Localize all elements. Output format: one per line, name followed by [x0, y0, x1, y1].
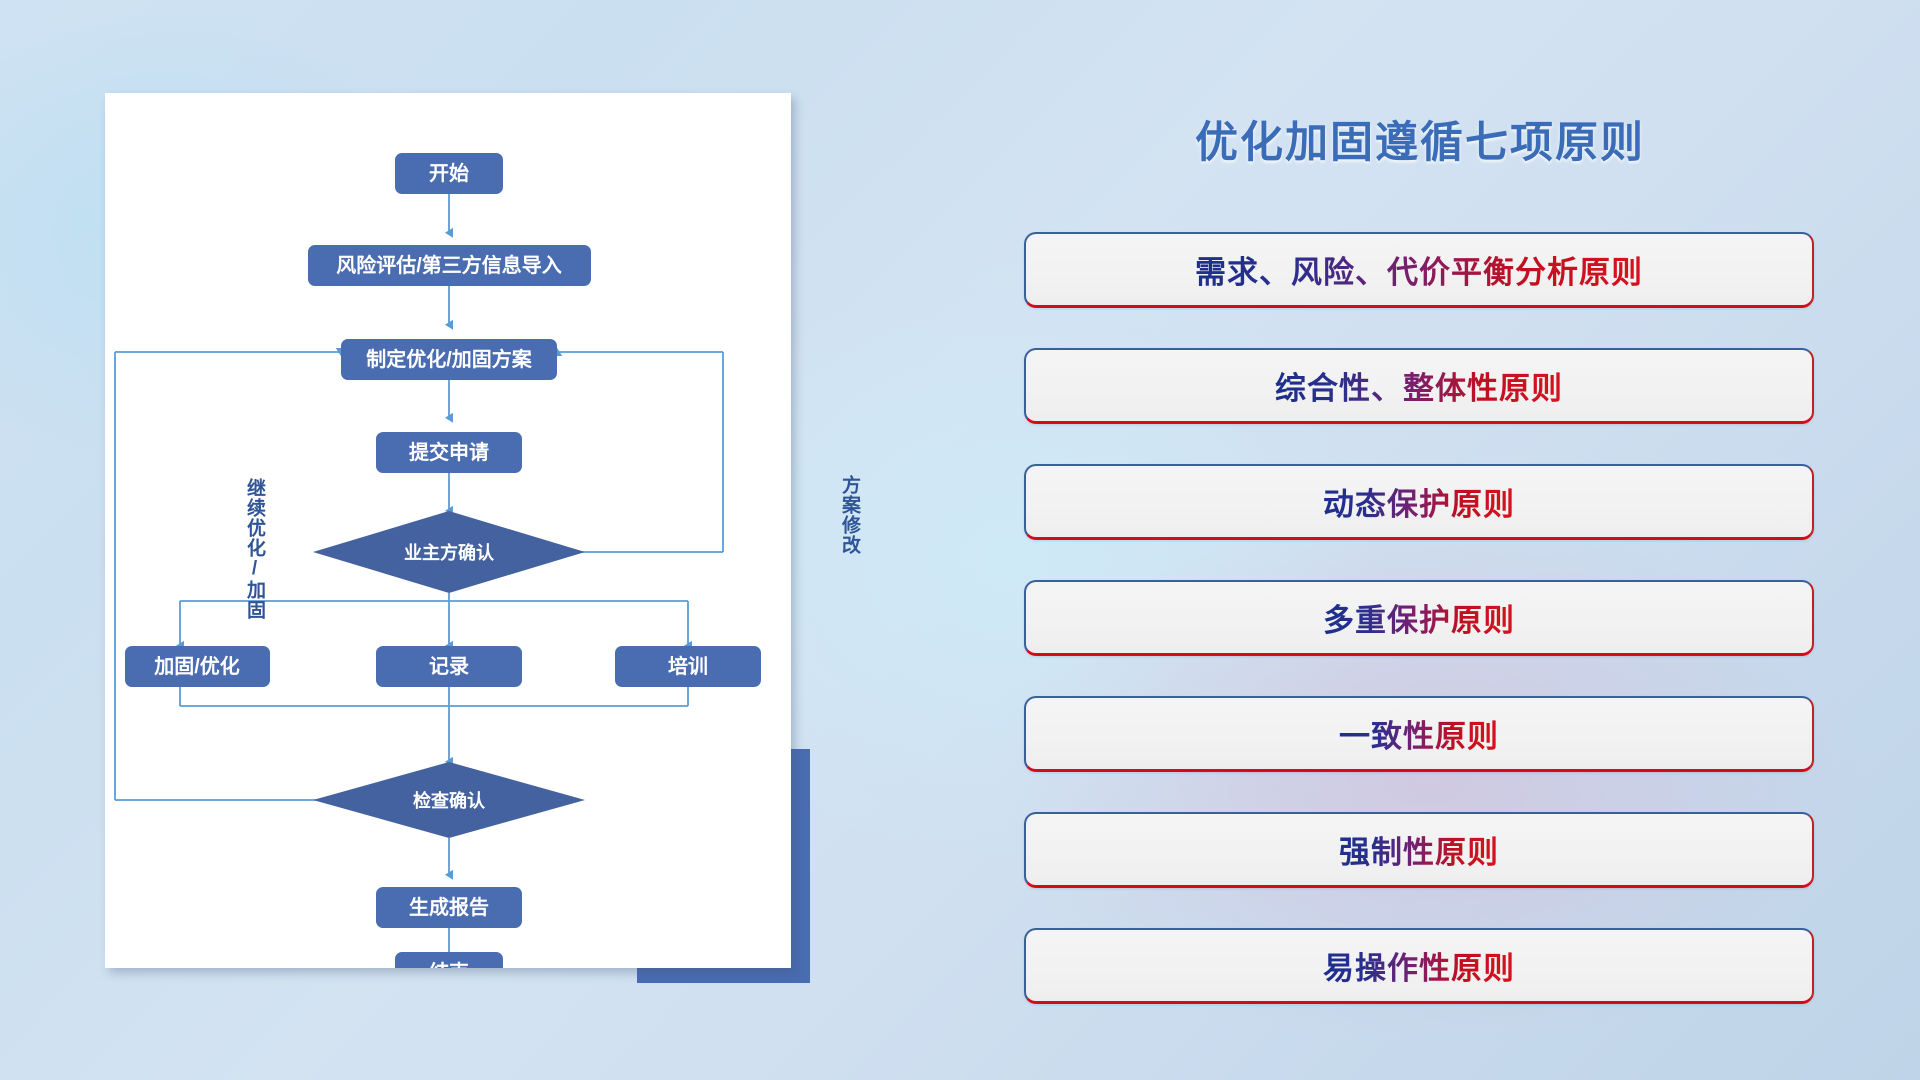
principle-card-2-label: 综合性、整体性原则 — [1275, 363, 1563, 408]
principle-card-4[interactable]: 多重保护原则 — [1024, 580, 1814, 656]
flow-node-risk-assessment-label: 风险评估/第三方信息导入 — [336, 253, 562, 277]
flow-node-end[interactable]: 结束 — [395, 952, 503, 968]
principle-card-1-label: 需求、风险、代价平衡分析原则 — [1195, 247, 1643, 292]
flow-node-generate-report-label: 生成报告 — [409, 895, 489, 919]
flow-node-risk-assessment[interactable]: 风险评估/第三方信息导入 — [308, 245, 591, 286]
flowchart-canvas: 开始 风险评估/第三方信息导入 制定优化/加固方案 提交申请 — [105, 93, 791, 968]
principle-card-3-label: 动态保护原则 — [1323, 479, 1515, 524]
principles-panel: 优化加固遵循七项原则 需求、风险、代价平衡分析原则 综合性、整体性原则 动态保护… — [1020, 0, 1820, 1080]
flow-node-generate-report[interactable]: 生成报告 — [376, 887, 522, 928]
flow-node-check-confirm-label: 检查确认 — [413, 790, 486, 811]
principle-card-3[interactable]: 动态保护原则 — [1024, 464, 1814, 540]
principle-card-5[interactable]: 一致性原则 — [1024, 696, 1814, 772]
flow-node-record[interactable]: 记录 — [376, 646, 522, 687]
flow-node-submit-application-label: 提交申请 — [409, 440, 489, 464]
flow-node-plan-label: 制定优化/加固方案 — [366, 347, 533, 371]
flow-node-submit-application[interactable]: 提交申请 — [376, 432, 522, 473]
principle-card-1[interactable]: 需求、风险、代价平衡分析原则 — [1024, 232, 1814, 308]
flow-node-plan[interactable]: 制定优化/加固方案 — [341, 339, 557, 380]
flowchart-document-card: 开始 风险评估/第三方信息导入 制定优化/加固方案 提交申请 — [105, 93, 791, 968]
flow-node-start-label: 开始 — [429, 161, 469, 185]
principle-card-7[interactable]: 易操作性原则 — [1024, 928, 1814, 1004]
principle-card-5-label: 一致性原则 — [1339, 711, 1499, 756]
flow-node-record-label: 记录 — [429, 655, 469, 678]
principle-card-6-label: 强制性原则 — [1339, 827, 1499, 872]
flow-node-check-confirm[interactable]: 检查确认 — [313, 762, 585, 838]
flow-edge-label-continue-optimize: 继续优化/加固 — [245, 478, 264, 620]
flow-node-end-label: 结束 — [429, 960, 470, 968]
flow-node-training[interactable]: 培训 — [615, 646, 761, 687]
principle-card-7-label: 易操作性原则 — [1323, 943, 1515, 988]
flow-edge-label-plan-revision: 方案修改 — [840, 475, 859, 555]
principle-card-6[interactable]: 强制性原则 — [1024, 812, 1814, 888]
flow-node-owner-confirm-label: 业主方确认 — [404, 542, 495, 563]
flow-node-reinforce-label: 加固/优化 — [153, 654, 240, 678]
slide-canvas: 开始 风险评估/第三方信息导入 制定优化/加固方案 提交申请 — [0, 0, 1920, 1080]
flow-node-start[interactable]: 开始 — [395, 153, 503, 194]
principle-card-2[interactable]: 综合性、整体性原则 — [1024, 348, 1814, 424]
principle-card-4-label: 多重保护原则 — [1323, 595, 1515, 640]
flow-node-reinforce[interactable]: 加固/优化 — [125, 646, 270, 687]
principles-list: 需求、风险、代价平衡分析原则 综合性、整体性原则 动态保护原则 多重保护原则 一… — [1024, 232, 1814, 1044]
flow-node-training-label: 培训 — [668, 654, 708, 678]
panel-title: 优化加固遵循七项原则 — [1020, 108, 1820, 170]
flow-node-owner-confirm[interactable]: 业主方确认 — [313, 511, 585, 593]
flowchart-svg: 开始 风险评估/第三方信息导入 制定优化/加固方案 提交申请 — [105, 93, 791, 968]
